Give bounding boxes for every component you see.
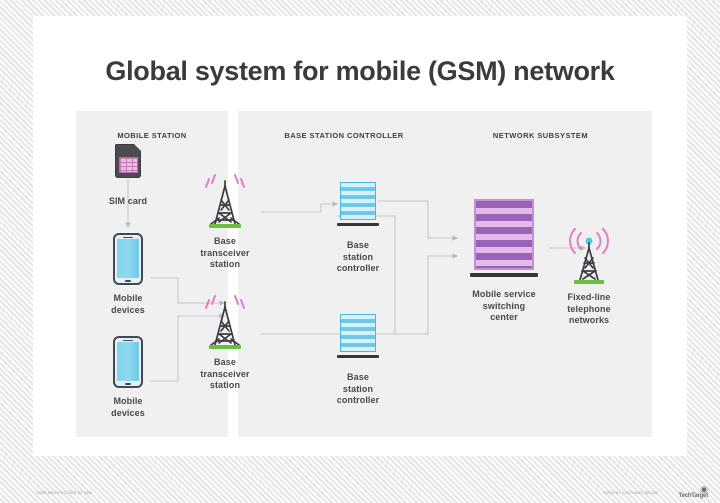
node-bsc-top[interactable]: Base station controller: [298, 176, 418, 275]
transmission-tower-icon: [165, 172, 285, 232]
antenna-tower-icon: [529, 228, 649, 288]
footer-caption-right: CONTENT CONTINUES BELOW: [603, 491, 658, 495]
footer-caption-left: CORE ARCHITECTURE OF GSM: [36, 491, 92, 495]
transmission-tower-icon: [165, 293, 285, 353]
node-bts-top[interactable]: Base transceiver station: [165, 172, 285, 271]
node-label-bts-top: Base transceiver station: [165, 236, 285, 271]
node-label-fixed-line-networks: Fixed-line telephone networks: [529, 292, 649, 327]
server-rack-icon: [298, 308, 418, 368]
node-bts-bottom[interactable]: Base transceiver station: [165, 293, 285, 392]
server-rack-icon: [298, 176, 418, 236]
node-label-bsc-bottom: Base station controller: [298, 372, 418, 407]
node-fixed-line-networks[interactable]: Fixed-line telephone networks: [529, 228, 649, 327]
diagram-card: Global system for mobile (GSM) network M…: [33, 16, 687, 456]
techtarget-logo: ◉ TechTarget: [679, 485, 708, 499]
node-bsc-bottom[interactable]: Base station controller: [298, 308, 418, 407]
logo-wordmark: TechTarget: [679, 493, 708, 499]
logo-mark-icon: ◉: [679, 485, 708, 493]
node-label-bts-bottom: Base transceiver station: [165, 357, 285, 392]
node-label-bsc-top: Base station controller: [298, 240, 418, 275]
node-label-mobile-device-bottom: Mobile devices: [68, 396, 188, 419]
